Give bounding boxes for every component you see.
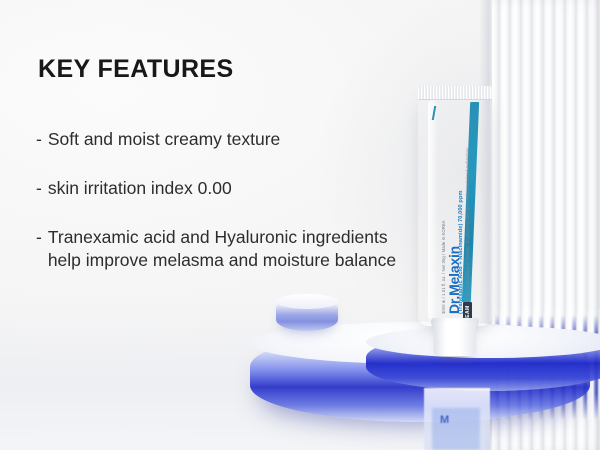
list-item: - Soft and moist creamy texture (36, 128, 416, 151)
tube-brand-name: Dr.Melaxin (446, 246, 462, 314)
feature-text: Tranexamic acid and Hyaluronic ingredien… (48, 226, 416, 272)
bullet-dash: - (36, 177, 42, 200)
tube-claim-text: reducing the appearance of freckles, bri… (465, 148, 471, 314)
feature-text: skin irritation index 0.00 (48, 177, 416, 200)
bullet-dash: - (36, 226, 42, 272)
tube-reflection-mark: M (440, 414, 450, 426)
feature-list: - Soft and moist creamy texture - skin i… (36, 128, 416, 298)
bullet-dash: - (36, 128, 42, 151)
tube-cap (434, 322, 476, 356)
tube-highlight (428, 100, 437, 320)
list-item: - Tranexamic acid and Hyaluronic ingredi… (36, 226, 416, 272)
page-title: KEY FEATURES (38, 55, 234, 84)
product-feature-banner: M reducing the appearance of freckles, b… (0, 0, 600, 450)
tube-crimp-seal (418, 86, 492, 100)
acrylic-disc-mid-top (366, 326, 600, 358)
product-tube: reducing the appearance of freckles, bri… (418, 86, 492, 326)
list-item: - skin irritation index 0.00 (36, 177, 416, 200)
feature-text: Soft and moist creamy texture (48, 128, 416, 151)
